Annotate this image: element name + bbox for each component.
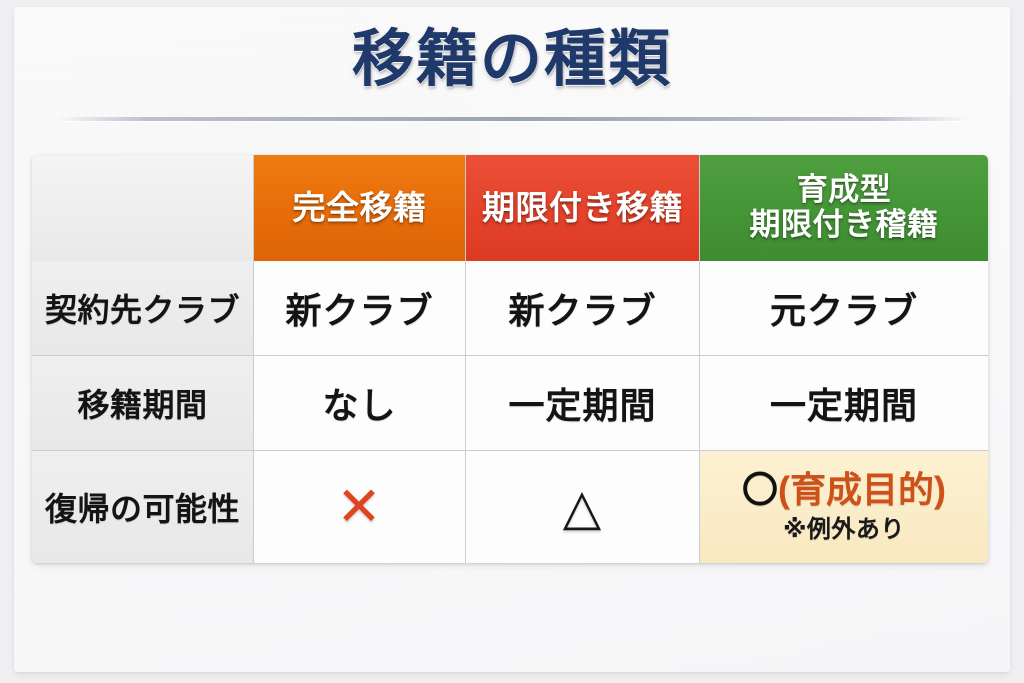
table-head: 完全移籍 期限付き移籍 育成型 期限付き稽籍	[32, 155, 988, 261]
table-row: 移籍期間 なし 一定期間 一定期間	[32, 356, 988, 451]
column-header-loan-transfer: 期限付き移籍	[466, 155, 700, 261]
table-body: 契約先クラブ 新クラブ 新クラブ 元クラブ 移籍期間 なし 一定期間 一定期間 …	[32, 261, 988, 563]
column-header-development-loan-line2: 期限付き稽籍	[750, 207, 939, 242]
table-row: 契約先クラブ 新クラブ 新クラブ 元クラブ	[32, 261, 988, 356]
column-header-full-transfer: 完全移籍	[254, 155, 466, 261]
cell-transfer-period-loan: 一定期間	[466, 356, 700, 451]
highlight-main-line: 〇(育成目的)	[700, 471, 988, 509]
table-container: 完全移籍 期限付き移籍 育成型 期限付き稽籍 契約先クラブ 新クラブ 新クラブ …	[32, 155, 992, 563]
row-label-transfer-period: 移籍期間	[32, 356, 254, 451]
cell-contract-club-development: 元クラブ	[700, 261, 988, 356]
slide-card: 移籍の種類 完全移籍 期限付き移籍 育成型 期限付き稽籍	[14, 7, 1010, 672]
cell-return-possibility-loan: △	[466, 451, 700, 563]
row-label-return-possibility: 復帰の可能性	[32, 451, 254, 563]
cell-return-possibility-development: 〇(育成目的) ※例外あり	[700, 451, 988, 563]
cell-contract-club-loan: 新クラブ	[466, 261, 700, 356]
circle-mark-icon: 〇	[742, 469, 778, 510]
table-corner-cell	[32, 155, 254, 261]
table-header-row: 完全移籍 期限付き移籍 育成型 期限付き稽籍	[32, 155, 988, 261]
table-row: 復帰の可能性 ✕ △ 〇(育成目的) ※例外あり	[32, 451, 988, 563]
highlight-purpose-label: (育成目的)	[778, 469, 946, 510]
cell-transfer-period-development: 一定期間	[700, 356, 988, 451]
title-container: 移籍の種類	[14, 29, 1010, 91]
column-header-development-loan-line1: 育成型	[797, 172, 892, 207]
cell-return-possibility-full: ✕	[254, 451, 466, 563]
cell-transfer-period-full: なし	[254, 356, 466, 451]
highlight-exception-note: ※例外あり	[700, 517, 988, 543]
page-title: 移籍の種類	[352, 29, 672, 91]
column-header-development-loan: 育成型 期限付き稽籍	[700, 155, 988, 261]
transfer-types-table: 完全移籍 期限付き移籍 育成型 期限付き稽籍 契約先クラブ 新クラブ 新クラブ …	[32, 155, 988, 563]
cell-contract-club-full: 新クラブ	[254, 261, 466, 356]
cross-mark-icon: ✕	[254, 480, 465, 534]
title-divider	[56, 117, 968, 121]
row-label-contract-club: 契約先クラブ	[32, 261, 254, 356]
triangle-mark-icon: △	[466, 482, 699, 532]
